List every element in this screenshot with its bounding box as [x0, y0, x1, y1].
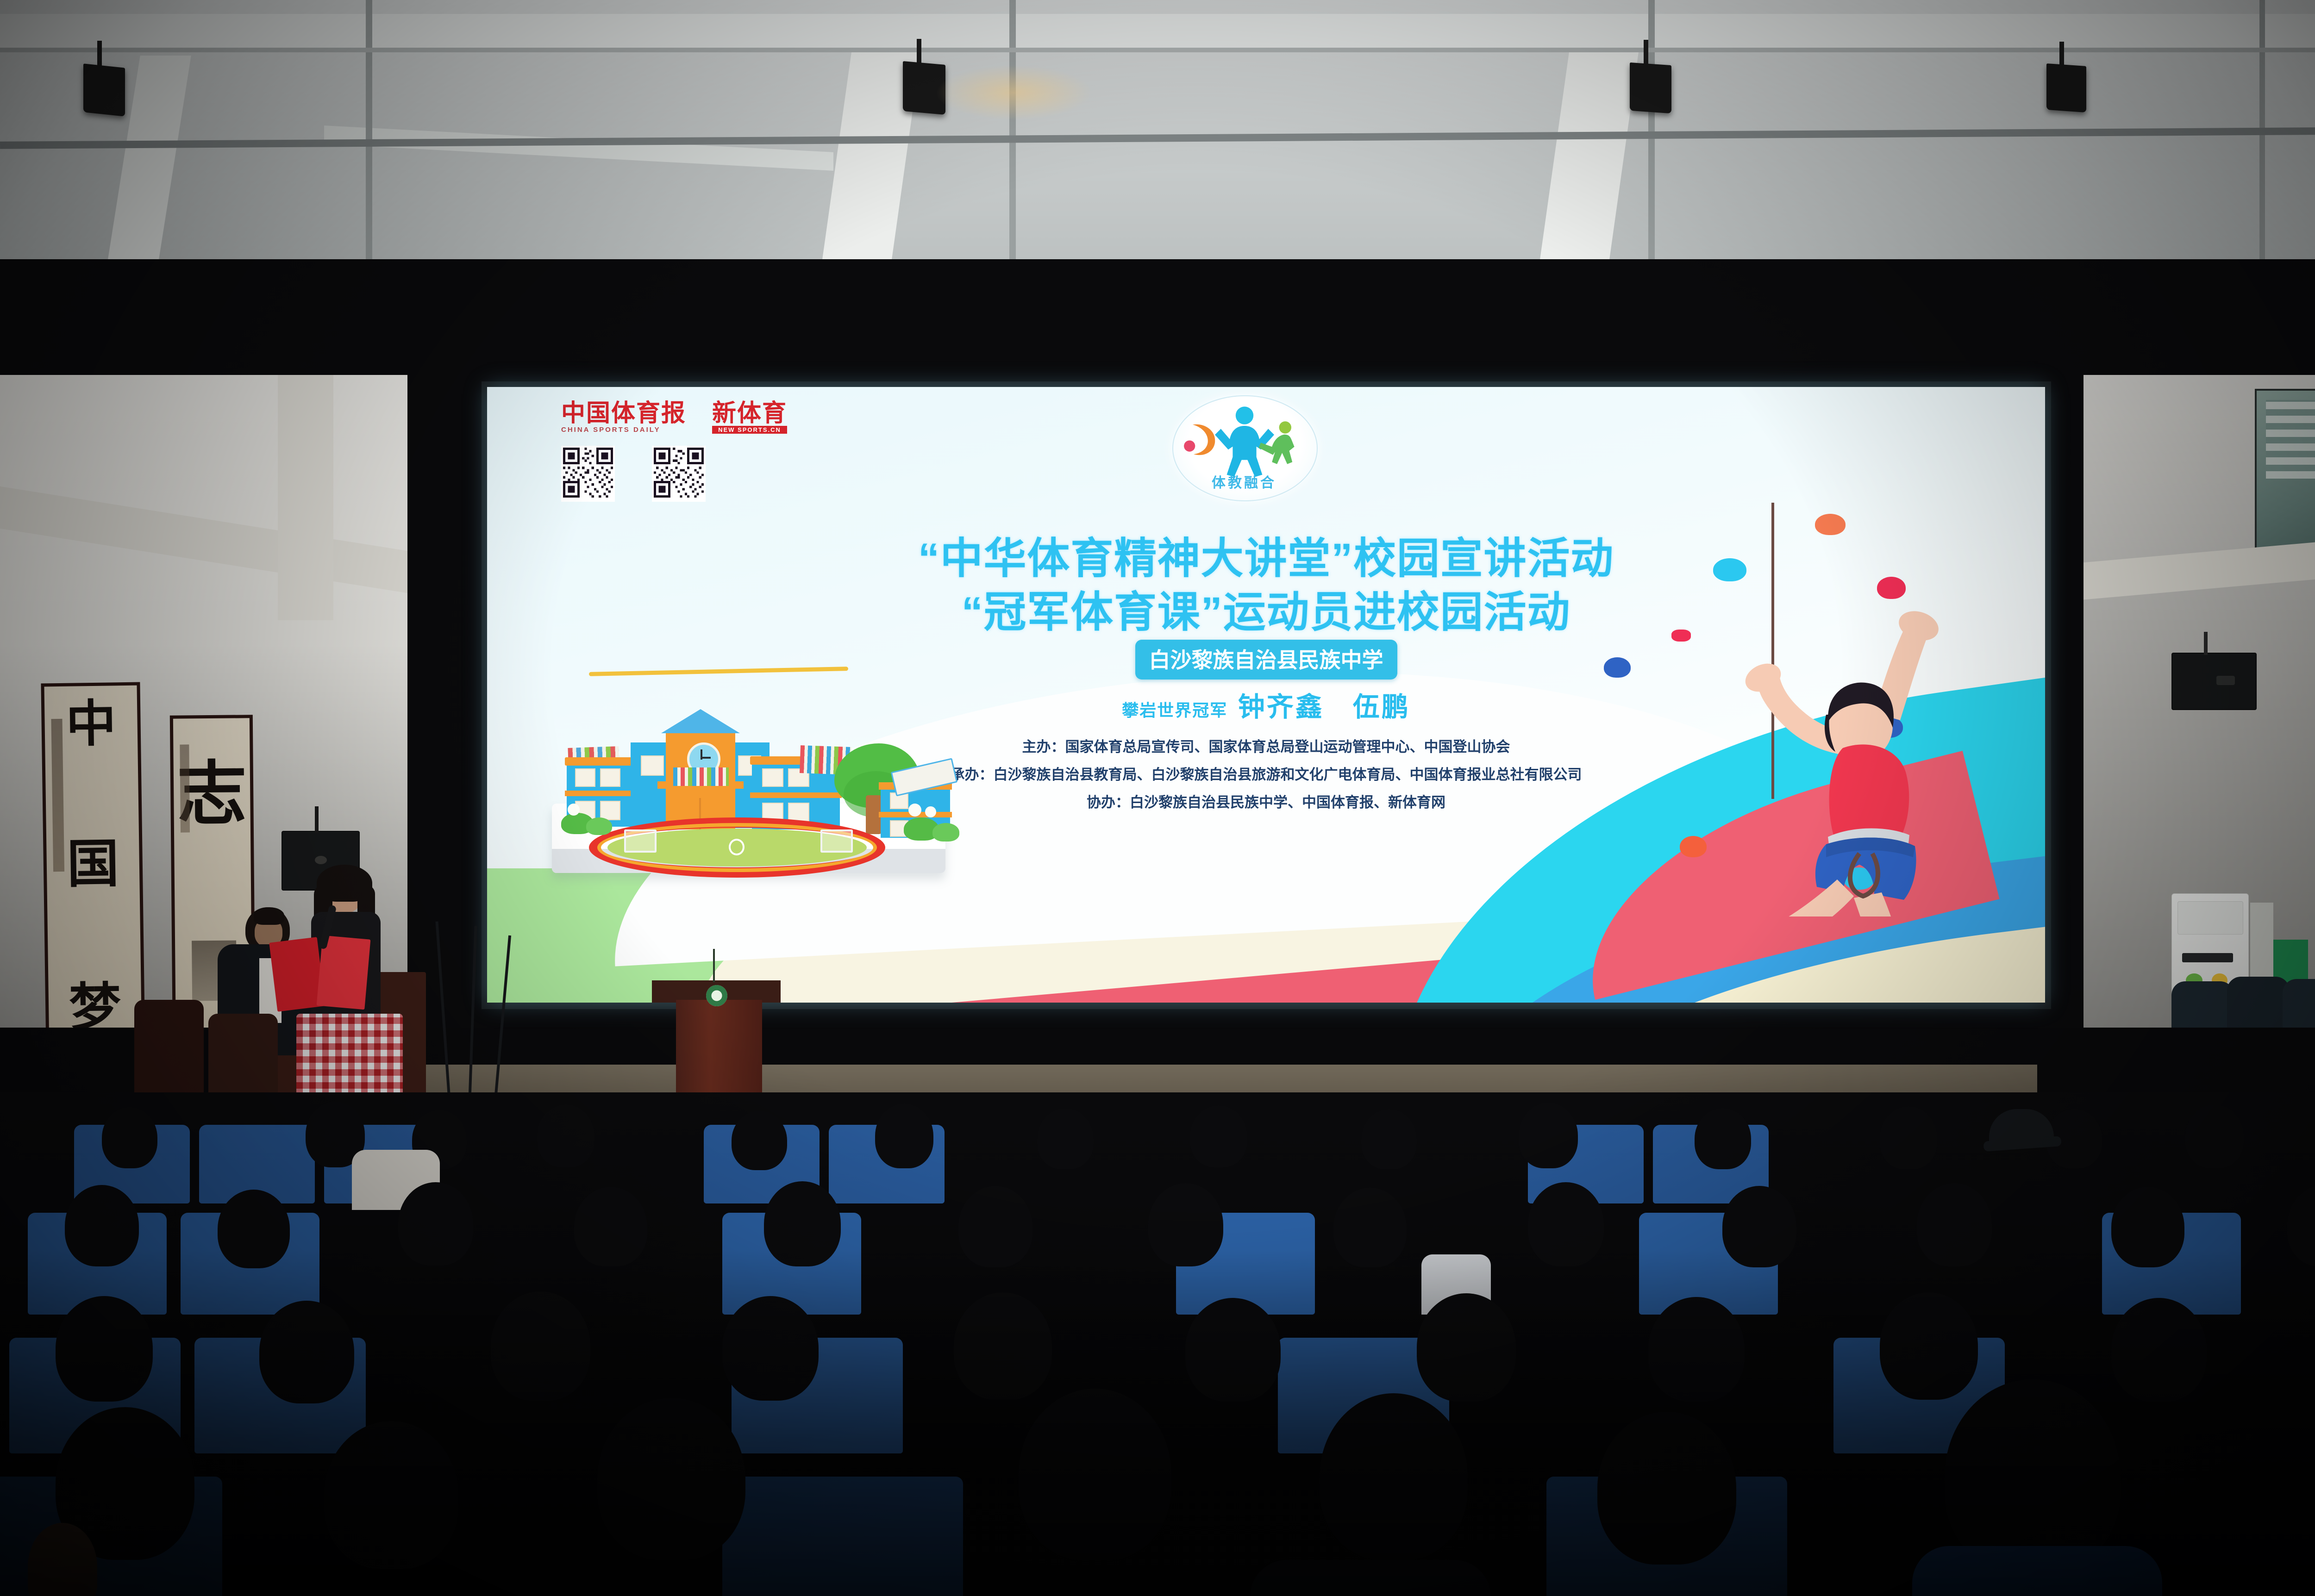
window-mullion: [366, 0, 372, 296]
window: [600, 768, 620, 787]
lectern-school-crest: [706, 985, 727, 1006]
window-mullion: [1009, 0, 1016, 296]
accent-line: [589, 667, 848, 676]
media-logo-2-name-en: NEW SPORTS.CN: [712, 426, 787, 434]
ceiling-rail-upper: [0, 48, 2315, 52]
media-logo-1: 中国体育报 CHINA SPORTS DAILY: [561, 402, 686, 434]
audience-head: [537, 1104, 594, 1167]
qr-code-new-sports[interactable]: [652, 446, 706, 502]
mc-head: [319, 867, 368, 916]
media-logo-group: 中国体育报 CHINA SPORTS DAILY 新体育 NEW SPORTS.…: [561, 402, 787, 502]
photograph-scene: 中 国 梦 志: [0, 0, 2315, 1596]
flower: [568, 804, 580, 816]
audience-head: [2185, 1104, 2244, 1168]
projection-screen: 中国体育报 CHINA SPORTS DAILY 新体育 NEW SPORTS.…: [487, 387, 2045, 1003]
media-logo-2: 新体育 NEW SPORTS.CN: [712, 402, 787, 434]
venue-badge: 白沙黎族自治县民族中学: [1135, 640, 1397, 680]
books-stack: [673, 767, 729, 786]
emblem-figure-orange: [1183, 418, 1234, 468]
media-logo-1-name-cn: 中国体育报: [561, 402, 686, 426]
audience-head: [102, 1107, 157, 1168]
audience-head: [875, 1103, 933, 1168]
school-wing-right-band: [750, 792, 842, 798]
goal-post: [820, 829, 853, 853]
audience-head: [1361, 1109, 1417, 1169]
field-marking: [729, 839, 745, 855]
media-logo-2-name-cn: 新体育: [712, 402, 787, 426]
audience-head: [732, 1111, 787, 1170]
window: [641, 755, 664, 776]
athlete-names: 钟齐鑫 伍鹏: [1238, 692, 1410, 722]
bush: [932, 823, 959, 842]
flower: [925, 806, 936, 817]
media-logo-1-name-en: CHINA SPORTS DAILY: [561, 426, 686, 434]
audience-head: [1190, 1105, 1247, 1167]
climber-figure: [1654, 574, 1959, 916]
audience-head: [1519, 1103, 1578, 1168]
audience-head: [1695, 1108, 1751, 1169]
climbing-hold: [1815, 514, 1846, 535]
speaker-bracket: [2204, 632, 2208, 655]
audience-shading: [0, 1250, 2315, 1596]
audience-head: [1880, 1106, 1937, 1169]
lectern-microphone: [713, 949, 715, 982]
qr-code-china-sports-daily[interactable]: [561, 446, 615, 502]
window: [575, 768, 595, 787]
clock-tower-roof: [661, 709, 740, 733]
light-glow: [935, 65, 1093, 120]
audience-head: [1037, 1108, 1094, 1169]
climbing-hold: [1604, 657, 1631, 678]
goal-post: [624, 829, 657, 853]
flower: [908, 804, 921, 817]
window-mullion: [1648, 0, 1655, 296]
speaker-bracket: [315, 806, 319, 833]
athlete-prefix: 攀岩世界冠军: [1122, 701, 1227, 720]
ceiling-panel: [0, 14, 2315, 51]
window: [762, 768, 783, 787]
emblem-text: 体教融合: [1168, 471, 1320, 492]
emblem-figure-green: [1256, 420, 1307, 471]
school-campus-illustration: [538, 665, 1010, 924]
bush: [586, 817, 612, 835]
event-emblem: 体教融合: [1168, 392, 1320, 507]
window: [600, 801, 620, 820]
wall-speaker-icon: [2171, 653, 2257, 710]
rock-climber-illustration: [1594, 503, 2001, 1003]
window-mullion: [2259, 0, 2265, 296]
